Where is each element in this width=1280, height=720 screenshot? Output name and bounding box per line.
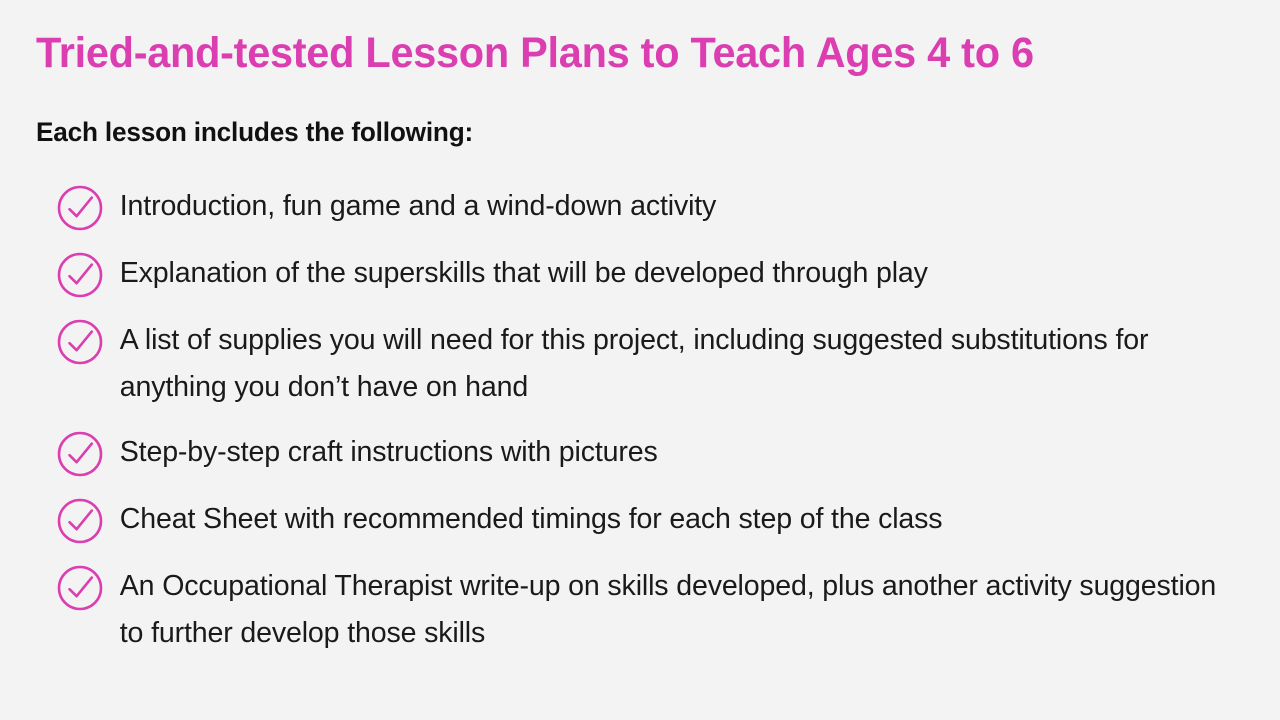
slide-root: Tried-and-tested Lesson Plans to Teach A… <box>0 0 1280 720</box>
list-item: Introduction, fun game and a wind-down a… <box>56 183 1246 232</box>
list-item: An Occupational Therapist write-up on sk… <box>56 563 1246 657</box>
list-item: Step-by-step craft instructions with pic… <box>56 429 1246 478</box>
list-item-label: A list of supplies you will need for thi… <box>104 317 1229 411</box>
list-item-label: Explanation of the superskills that will… <box>104 250 1229 297</box>
check-circle-icon <box>56 430 104 478</box>
feature-list: Introduction, fun game and a wind-down a… <box>56 183 1246 657</box>
check-circle-icon <box>56 251 104 299</box>
list-item: Cheat Sheet with recommended timings for… <box>56 496 1246 545</box>
page-title: Tried-and-tested Lesson Plans to Teach A… <box>36 29 1034 77</box>
list-item-label: Step-by-step craft instructions with pic… <box>104 429 1229 476</box>
check-circle-icon <box>56 497 104 545</box>
list-item-label: An Occupational Therapist write-up on sk… <box>104 563 1229 657</box>
list-item-label: Cheat Sheet with recommended timings for… <box>104 496 1229 543</box>
list-item: Explanation of the superskills that will… <box>56 250 1246 299</box>
section-subtitle: Each lesson includes the following: <box>36 116 473 150</box>
check-circle-icon <box>56 318 104 366</box>
check-circle-icon <box>56 184 104 232</box>
check-circle-icon <box>56 564 104 612</box>
list-item: A list of supplies you will need for thi… <box>56 317 1246 411</box>
list-item-label: Introduction, fun game and a wind-down a… <box>104 183 1229 230</box>
